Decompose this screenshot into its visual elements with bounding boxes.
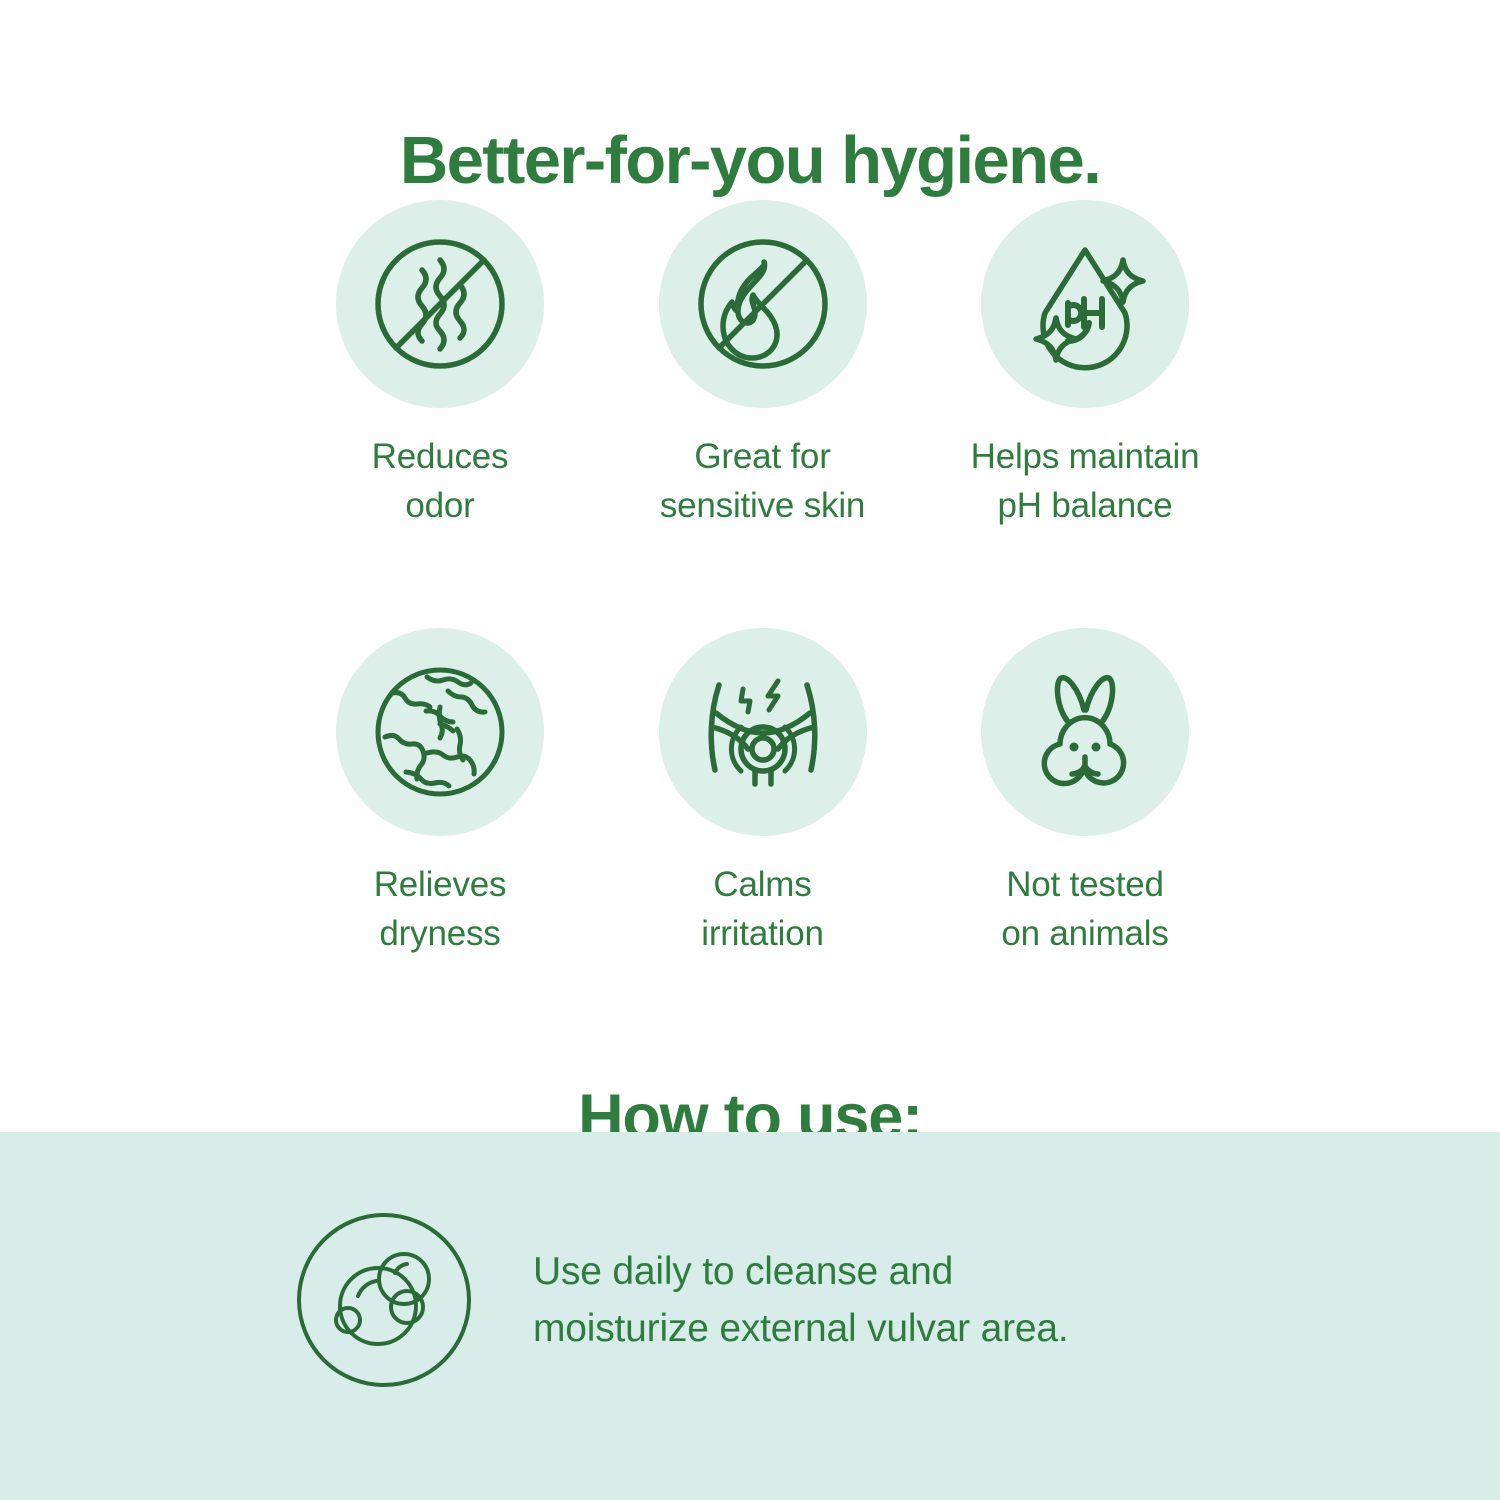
dry-skin-icon: [365, 657, 515, 807]
benefit-label: Not tested on animals: [1001, 860, 1168, 958]
benefit-icon-background: [336, 628, 544, 836]
benefits-row-2: Relieves dryness: [290, 628, 1235, 958]
benefit-icon-background: [659, 628, 867, 836]
benefit-label: Great for sensitive skin: [660, 432, 865, 530]
benefits-row-1: Reduces odor Great for sensitive skin: [290, 200, 1235, 530]
benefit-item-calms-irritation: Calms irritation: [613, 628, 913, 958]
benefit-item-not-tested-on-animals: Not tested on animals: [935, 628, 1235, 958]
no-flame-icon: [688, 229, 838, 379]
benefit-icon-background: [659, 200, 867, 408]
benefits-grid: Reduces odor Great for sensitive skin: [290, 200, 1235, 958]
body-irritation-icon: [688, 657, 838, 807]
bunny-icon: [1010, 657, 1160, 807]
benefit-icon-background: [981, 200, 1189, 408]
benefit-icon-background: [981, 628, 1189, 836]
how-to-use-panel: Use daily to cleanse and moisturize exte…: [0, 1132, 1500, 1500]
no-odor-icon: [365, 229, 515, 379]
bubbles-icon: [291, 1207, 477, 1393]
benefit-item-ph-balance: Helps maintain pH balance: [935, 200, 1235, 530]
page-title: Better-for-you hygiene.: [0, 122, 1500, 200]
benefit-item-reduces-odor: Reduces odor: [290, 200, 590, 530]
benefit-label: Relieves dryness: [374, 860, 507, 958]
benefit-item-sensitive-skin: Great for sensitive skin: [613, 200, 913, 530]
product-benefits-infographic: Better-for-you hygiene.: [0, 0, 1500, 1500]
benefit-label: Helps maintain pH balance: [971, 432, 1200, 530]
benefit-label: Calms irritation: [701, 860, 823, 958]
benefit-icon-background: [336, 200, 544, 408]
benefit-label: Reduces odor: [372, 432, 509, 530]
ph-droplet-icon: [1010, 229, 1160, 379]
benefit-item-relieves-dryness: Relieves dryness: [290, 628, 590, 958]
usage-instruction-text: Use daily to cleanse and moisturize exte…: [533, 1243, 1069, 1357]
how-to-use-content: Use daily to cleanse and moisturize exte…: [291, 1207, 1069, 1393]
